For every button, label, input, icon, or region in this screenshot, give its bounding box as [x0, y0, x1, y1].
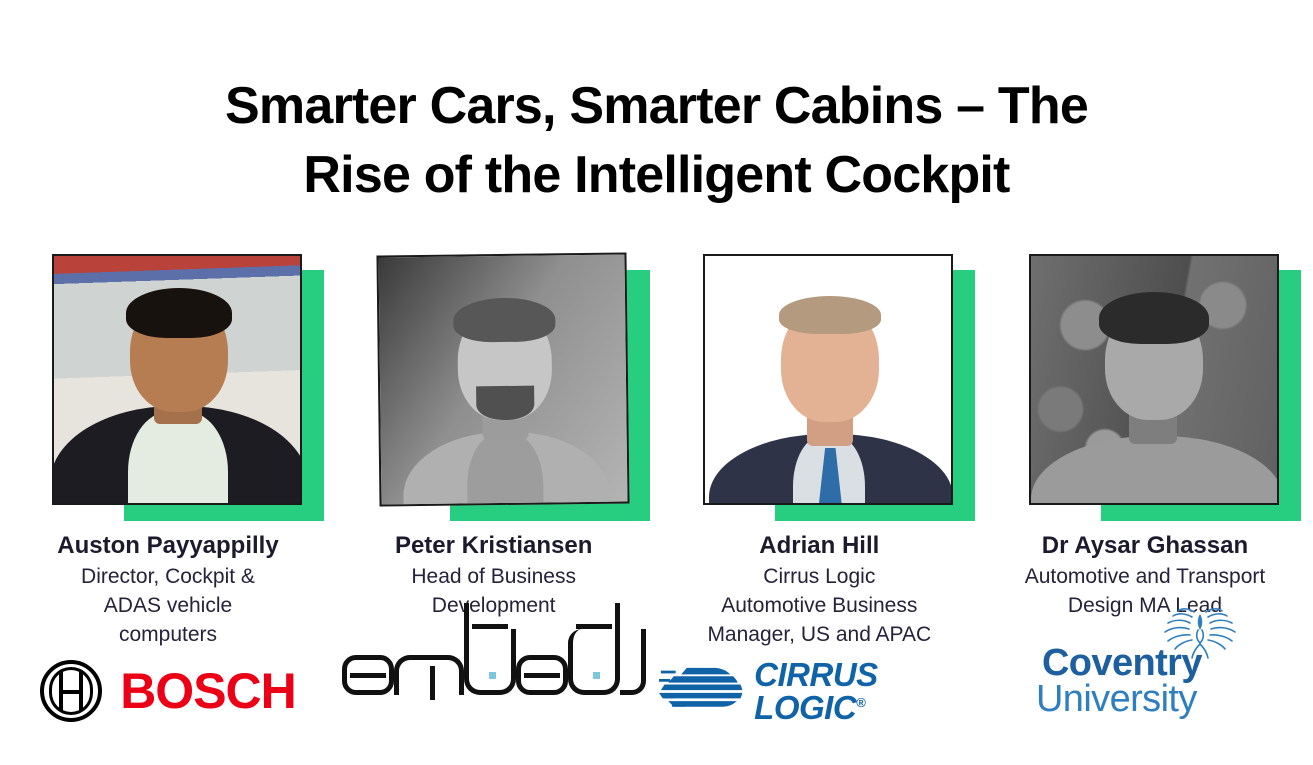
speaker-role-line: Director, Cockpit & — [81, 562, 255, 591]
speaker-role-line: ADAS vehicle — [81, 591, 255, 620]
cirrus-logic-wordmark: CIRRUS LOGIC® — [754, 658, 979, 724]
speaker-role: Head of Business Development — [411, 562, 576, 620]
bosch-armature-icon — [40, 660, 102, 722]
registered-mark-icon: ® — [856, 695, 865, 710]
embedl-dot-icon — [593, 672, 600, 679]
speaker-photo-peter-kristiansen — [376, 252, 629, 506]
speaker-role: Director, Cockpit & ADAS vehicle compute… — [81, 562, 255, 649]
speaker-list: Auston Payyappilly Director, Cockpit & A… — [0, 249, 1313, 727]
embedl-letter-b — [464, 629, 516, 695]
speaker-card-auston-payyappilly: Auston Payyappilly Director, Cockpit & A… — [8, 249, 328, 727]
bosch-wordmark: BOSCH — [120, 666, 296, 716]
speaker-photo-aysar-ghassan — [1029, 254, 1279, 505]
cirrus-logic-text: CIRRUS LOGIC — [754, 656, 878, 726]
photo-frame — [685, 249, 953, 521]
company-logo-coventry-university: Coventry University — [1036, 626, 1254, 698]
photo-frame — [360, 249, 628, 521]
company-logo-bosch: BOSCH — [40, 655, 296, 727]
speaker-role-line: Head of Business — [411, 562, 576, 591]
speaker-panel-slide: Smarter Cars, Smarter Cabins – The Rise … — [0, 0, 1313, 765]
embedl-letter-d — [568, 629, 620, 695]
company-logo-embedl — [342, 626, 646, 698]
speaker-card-peter-kristiansen: Peter Kristiansen Head of Business Devel… — [334, 249, 654, 727]
embedl-dot-icon — [489, 672, 496, 679]
photo-frame — [34, 249, 302, 521]
embedl-wordmark — [342, 629, 646, 695]
speaker-role-line: Manager, US and APAC — [707, 620, 931, 649]
speaker-name: Dr Aysar Ghassan — [1042, 529, 1248, 562]
speaker-name: Peter Kristiansen — [395, 529, 592, 562]
title-line-1: Smarter Cars, Smarter Cabins – The — [0, 72, 1313, 141]
speaker-name: Auston Payyappilly — [57, 529, 278, 562]
cirrus-logic-chip-icon — [659, 664, 748, 718]
embedl-letter-e — [342, 655, 394, 695]
photo-frame — [1011, 249, 1279, 521]
embedl-letter-e2 — [516, 655, 568, 695]
speaker-role-line: Automotive Business — [707, 591, 931, 620]
speaker-role-line: Cirrus Logic — [707, 562, 931, 591]
speaker-card-adrian-hill: Adrian Hill Cirrus Logic Automotive Busi… — [659, 249, 979, 727]
title-line-2: Rise of the Intelligent Cockpit — [0, 141, 1313, 210]
speaker-name: Adrian Hill — [759, 529, 879, 562]
coventry-wordmark-top: Coventry — [1036, 646, 1254, 680]
speaker-photo-adrian-hill — [703, 254, 953, 505]
page-title: Smarter Cars, Smarter Cabins – The Rise … — [0, 72, 1313, 210]
coventry-wordmark-bottom: University — [1036, 680, 1254, 718]
speaker-card-aysar-ghassan: Dr Aysar Ghassan Automotive and Transpor… — [985, 249, 1305, 727]
speaker-role: Cirrus Logic Automotive Business Manager… — [707, 562, 931, 649]
speaker-role-line: Development — [411, 591, 576, 620]
speaker-photo-auston-payyappilly — [52, 254, 302, 505]
company-logo-cirrus-logic: CIRRUS LOGIC® — [659, 655, 979, 727]
speaker-role-line: Automotive and Transport — [1025, 562, 1265, 591]
embedl-letter-m — [394, 655, 464, 695]
speaker-role-line: computers — [81, 620, 255, 649]
embedl-letter-l — [620, 629, 646, 695]
